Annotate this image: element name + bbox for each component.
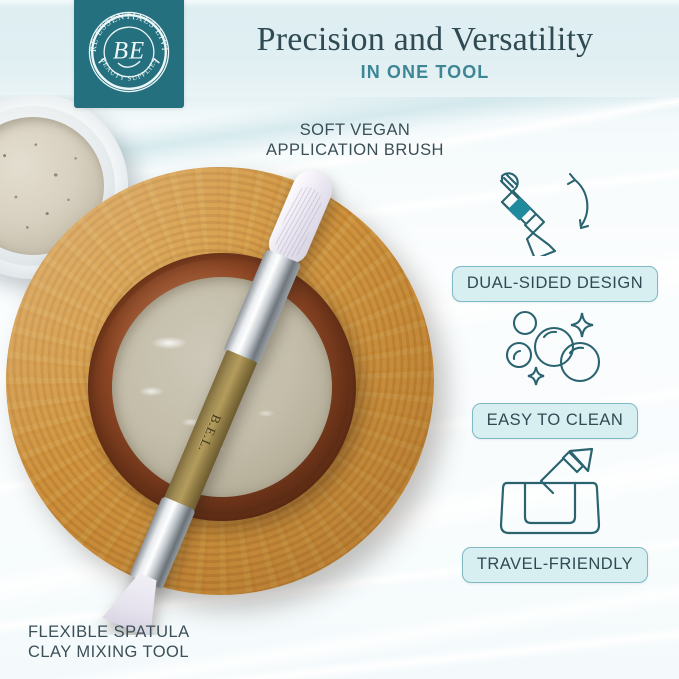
badge-easy-clean[interactable]: EASY TO CLEAN [472,403,639,439]
page-subtitle: IN ONE TOOL [190,62,660,83]
product-marketing-image: B.E.L. BARE ESSENTIALS LIVING BEAUTY SUP… [0,0,679,679]
brush-callout: SOFT VEGAN APPLICATION BRUSH [255,120,455,160]
brush-into-pouch-icon [485,445,625,537]
brush-accent-band [508,197,531,220]
badge-travel-friendly[interactable]: TRAVEL-FRIENDLY [462,547,648,583]
feature-travel-friendly: TRAVEL-FRIENDLY [440,445,670,583]
dual-ended-brush-rotate-icon [480,160,630,256]
feature-easy-clean: EASY TO CLEAN [440,305,670,439]
spatula-callout: FLEXIBLE SPATULA CLAY MIXING TOOL [28,622,258,662]
svg-text:BE: BE [113,37,145,64]
page-title: Precision and Versatility [190,20,660,60]
feature-dual-sided: DUAL-SIDED DESIGN [440,160,670,302]
brand-logo: BARE ESSENTIALS LIVING BEAUTY SUPPLIES B… [74,0,184,108]
bubbles-sparkle-icon [490,305,620,393]
brand-seal-logo: BARE ESSENTIALS LIVING BEAUTY SUPPLIES B… [83,6,175,98]
badge-dual-sided[interactable]: DUAL-SIDED DESIGN [452,266,658,302]
